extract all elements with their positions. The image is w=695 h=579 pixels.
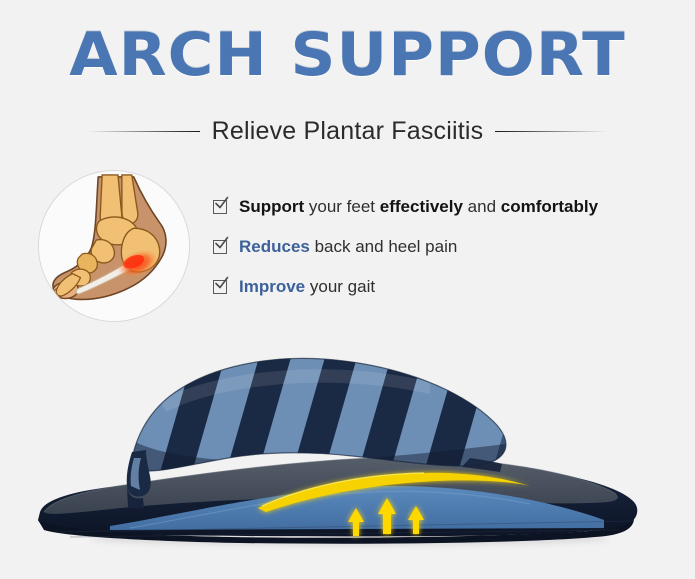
subtitle-row: Relieve Plantar Fasciitis — [0, 117, 695, 146]
product-image-sandal — [0, 340, 695, 579]
checkbox-checked-icon — [213, 199, 230, 216]
page-title: ARCH SUPPORT — [0, 22, 695, 88]
foot-anatomy-illustration — [38, 170, 190, 322]
page-subtitle: Relieve Plantar Fasciitis — [212, 117, 484, 146]
benefit-text-improve: Improve your gait — [239, 276, 375, 298]
benefit-text-reduces: Reduces back and heel pain — [239, 236, 457, 258]
divider-rule-left — [88, 131, 200, 132]
product-feature-image: ARCH SUPPORT Relieve Plantar Fasciitis — [0, 0, 695, 579]
benefit-text-support: Support your feet effectively and comfor… — [239, 196, 598, 218]
benefit-list: Support your feet effectively and comfor… — [213, 196, 683, 316]
list-item: Improve your gait — [213, 276, 683, 316]
checkbox-checked-icon — [213, 239, 230, 256]
list-item: Reduces back and heel pain — [213, 236, 683, 276]
list-item: Support your feet effectively and comfor… — [213, 196, 683, 236]
checkbox-checked-icon — [213, 279, 230, 296]
divider-rule-right — [495, 131, 607, 132]
